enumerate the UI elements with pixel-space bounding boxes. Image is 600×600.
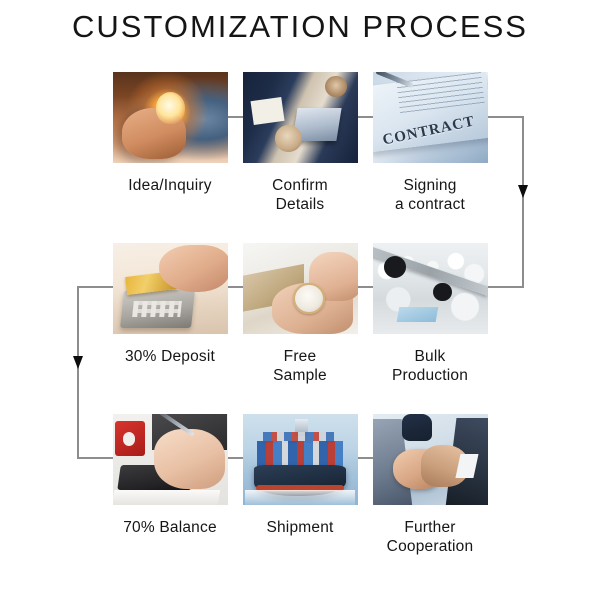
- step-image-free-sample: [243, 243, 358, 334]
- factory-icon: [373, 243, 488, 334]
- step-image-70-percent-balance: [113, 414, 228, 505]
- connector-right-vertical: [522, 116, 524, 287]
- step-label-further-cooperation: Further Cooperation: [354, 518, 506, 556]
- contract-document-icon: CONTRACT: [373, 72, 488, 163]
- arrow-down-right: [518, 185, 528, 198]
- arrow-down-left: [73, 356, 83, 369]
- step-image-bulk-production: [373, 243, 488, 334]
- wristwatch-icon: [243, 243, 358, 334]
- calculator-icon: [113, 414, 228, 505]
- watch-dial-shape: [293, 283, 325, 314]
- step-image-30-percent-deposit: [113, 243, 228, 334]
- machine-knob-shape-2: [433, 283, 451, 301]
- step-further-cooperation[interactable]: Further Cooperation: [354, 414, 506, 556]
- container-stack-lower: [257, 441, 342, 466]
- customization-process-infographic: CUSTOMIZATION PROCESS Idea/Inquiry: [0, 0, 600, 600]
- hand-shape: [154, 429, 225, 489]
- hand-shape: [159, 245, 228, 292]
- paper-shape: [250, 97, 284, 125]
- person-background-shape: [402, 414, 432, 441]
- card-payment-icon: [113, 243, 228, 334]
- step-bulk-production[interactable]: Bulk Production: [354, 243, 506, 385]
- connector-left-vertical: [77, 286, 79, 457]
- step-image-confirm-details: [243, 72, 358, 163]
- step-image-signing-a-contract: CONTRACT: [373, 72, 488, 163]
- keypad-shape: [132, 301, 182, 317]
- step-signing-a-contract[interactable]: CONTRACT Signing a contract: [354, 72, 506, 214]
- cargo-ship-icon: [243, 414, 358, 505]
- person-head-shape-2: [325, 76, 347, 98]
- step-label-bulk-production: Bulk Production: [354, 347, 506, 385]
- machine-knob-shape-1: [384, 256, 406, 278]
- tray-shape: [397, 307, 439, 322]
- person-head-shape: [275, 125, 303, 152]
- step-label-signing-a-contract: Signing a contract: [354, 176, 506, 214]
- handshake-icon: [373, 414, 488, 505]
- step-image-idea-inquiry: [113, 72, 228, 163]
- page-title: CUSTOMIZATION PROCESS: [0, 9, 600, 45]
- lightbulb-icon: [113, 72, 228, 163]
- step-image-shipment: [243, 414, 358, 505]
- water-wake-shape: [245, 490, 355, 505]
- meeting-icon: [243, 72, 358, 163]
- step-image-further-cooperation: [373, 414, 488, 505]
- paper-shape: [113, 490, 220, 505]
